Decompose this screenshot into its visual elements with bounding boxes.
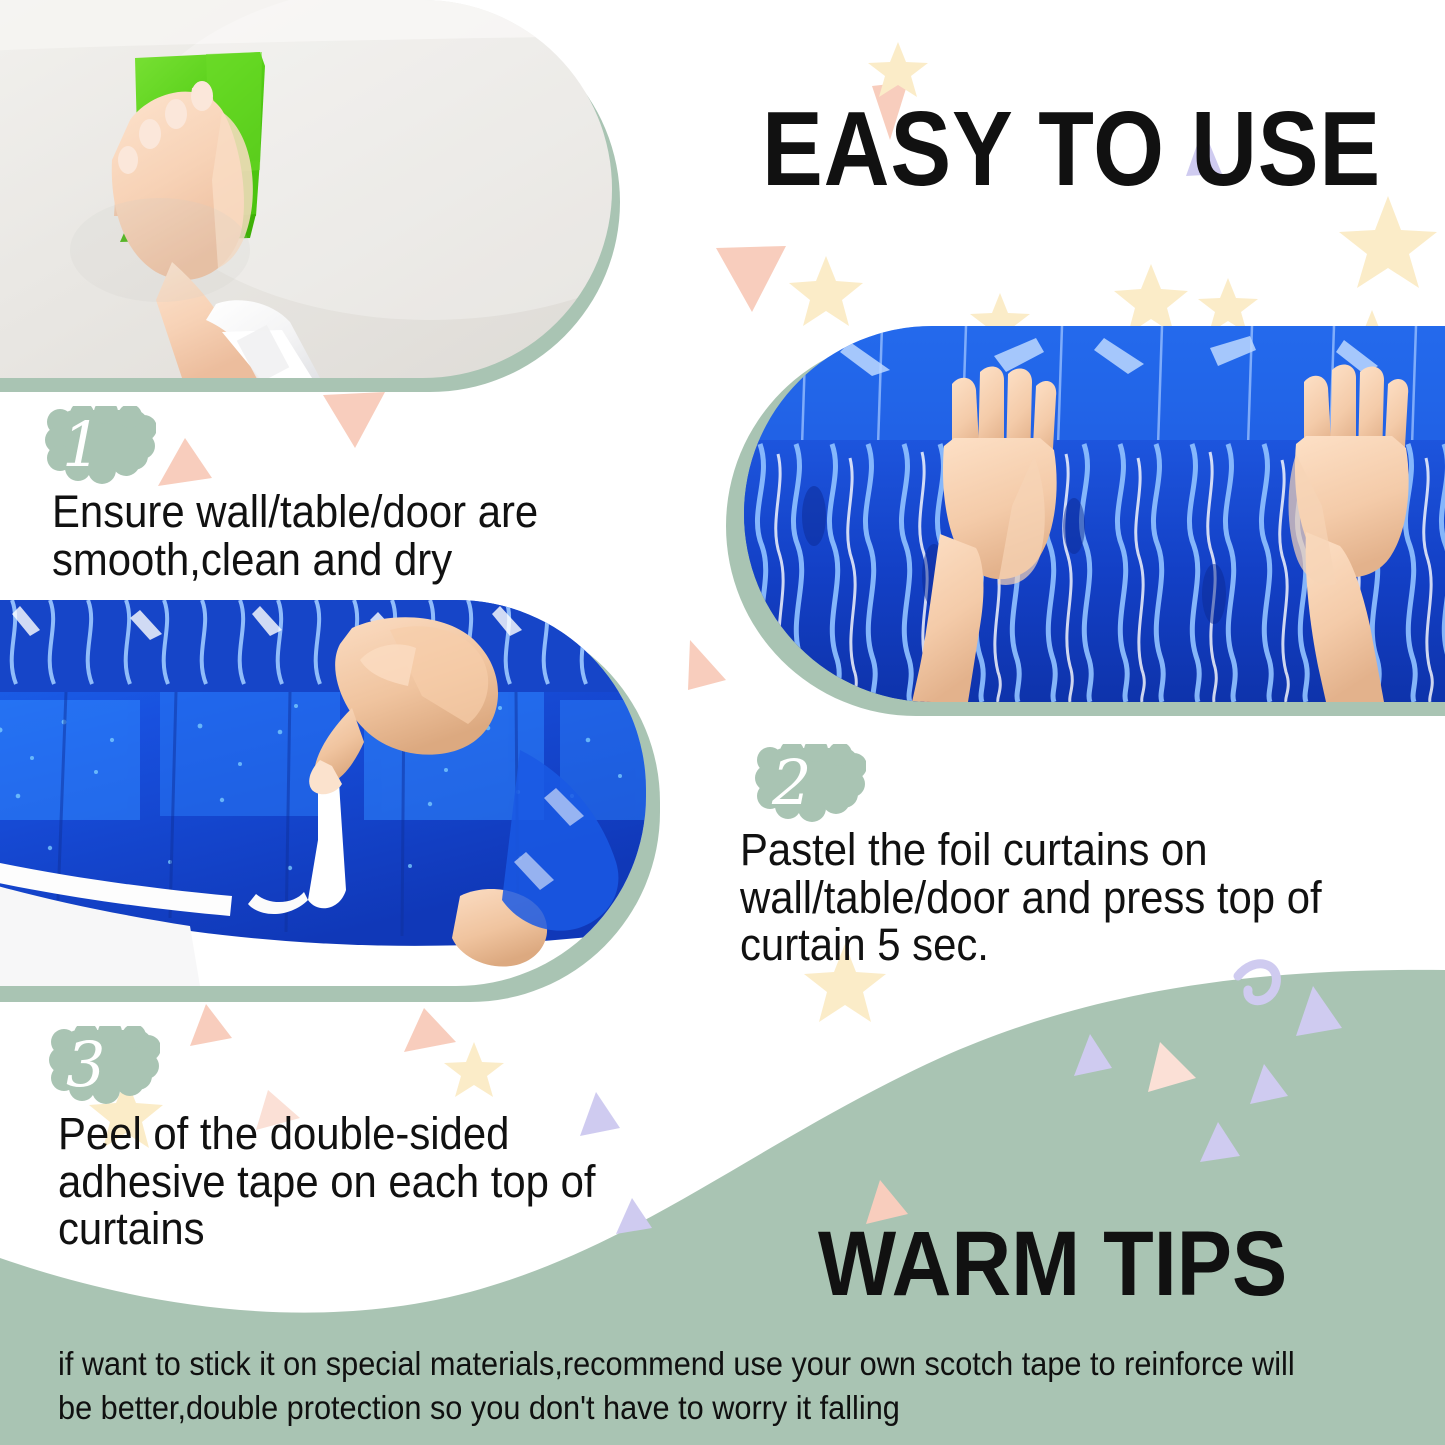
step-3-text: Peel of the double-sided adhesive tape o…: [58, 1110, 728, 1253]
step-badge-2: 2: [754, 744, 866, 822]
step-number-2: 2: [754, 744, 866, 822]
step-2-text: Pastel the foil curtains on wall/table/d…: [740, 826, 1445, 969]
step-badge-3: 3: [48, 1026, 160, 1104]
page-title: EASY TO USE: [762, 96, 1381, 202]
warm-tips-title: WARM TIPS: [818, 1218, 1287, 1310]
infographic-page: EASY TO USE: [0, 0, 1445, 1445]
step-badge-1: 1: [44, 406, 156, 484]
step-number-1: 1: [44, 406, 156, 484]
warm-tips-body: if want to stick it on special materials…: [58, 1342, 1304, 1430]
step-1-text: Ensure wall/table/door are smooth,clean …: [52, 488, 703, 583]
step-number-3: 3: [48, 1026, 160, 1104]
